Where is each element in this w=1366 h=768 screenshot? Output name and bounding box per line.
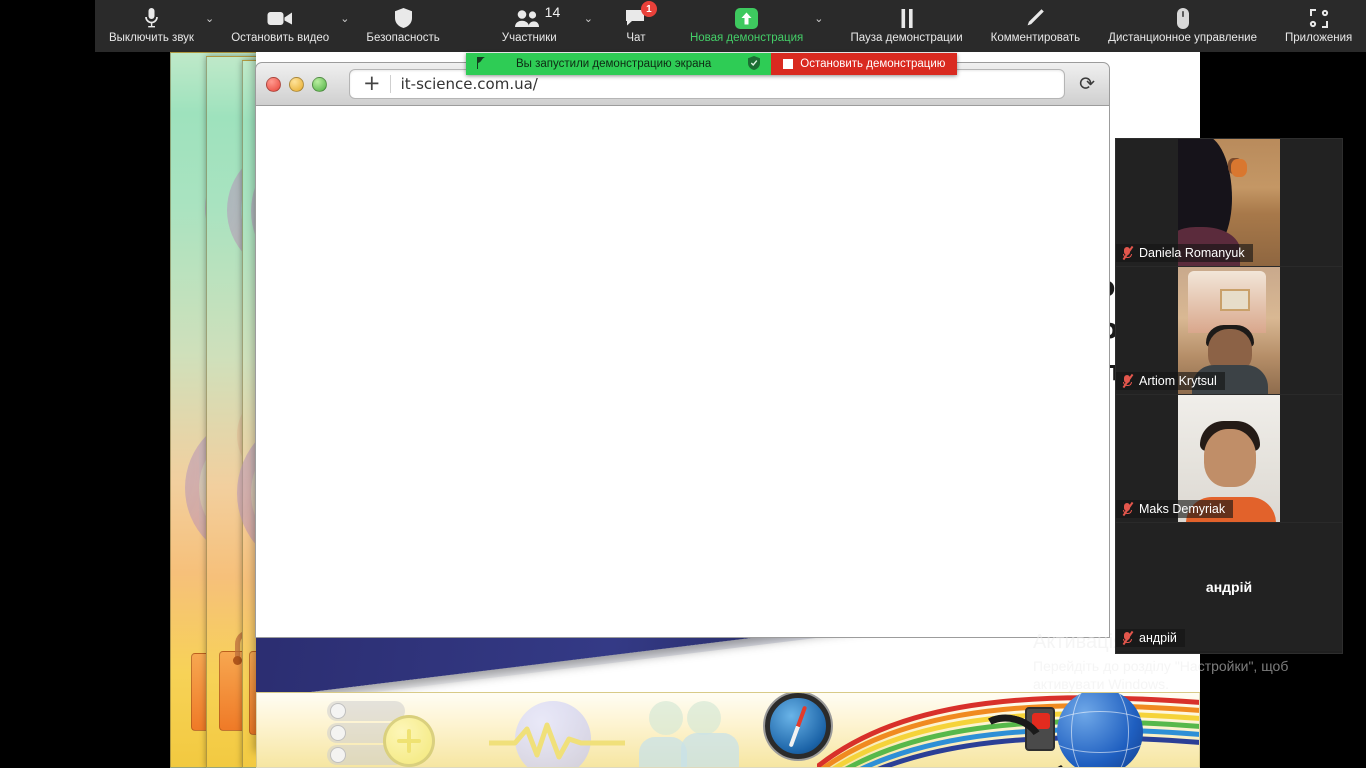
security-label: Безопасность (366, 33, 439, 45)
screen: В законі України “Про охорону праці” заз… (0, 0, 1366, 768)
screen-share-status-bar: Вы запустили демонстрацию экрана Останов… (466, 53, 957, 75)
mouse-icon (1176, 6, 1190, 30)
participant-placeholder-name: андрій (1116, 579, 1342, 595)
annotate-button[interactable]: Комментировать (982, 0, 1090, 52)
participant-name: андрій (1139, 631, 1177, 645)
chat-button[interactable]: 1 Чат (615, 0, 657, 52)
share-options-chevron-down-icon[interactable]: ⌄ (812, 0, 831, 52)
participants-button[interactable]: 14 Участники (493, 0, 566, 52)
mic-muted-icon (1121, 246, 1133, 260)
chat-unread-badge: 1 (641, 1, 657, 17)
address-bar-separator (390, 75, 391, 93)
pause-icon (899, 6, 915, 30)
decorative-person-body (681, 733, 739, 768)
maximize-window-button[interactable] (312, 77, 327, 92)
mute-options-chevron-down-icon[interactable]: ⌄ (203, 0, 222, 52)
decorative-toggle-knob (330, 725, 346, 741)
shield-check-icon (747, 55, 761, 74)
participants-label: Участники (502, 33, 557, 45)
microphone-icon (143, 6, 160, 30)
decorative-plus-icon (383, 715, 435, 767)
decorative-person-head (687, 701, 721, 735)
participant-name-chip: Artiom Krytsul (1116, 372, 1225, 390)
chat-label: Чат (626, 33, 645, 45)
participant-name: Artiom Krytsul (1139, 374, 1217, 388)
participant-name: Daniela Romanyuk (1139, 246, 1245, 260)
mic-muted-icon (1121, 374, 1133, 388)
stop-share-button[interactable]: Остановить демонстрацию (771, 53, 957, 75)
close-window-button[interactable] (266, 77, 281, 92)
pause-share-label: Пауза демонстрации (850, 33, 962, 45)
decorative-waveform (489, 721, 625, 761)
shield-icon (394, 6, 413, 30)
participant-tile[interactable]: андрій андрій (1116, 523, 1342, 651)
reload-icon[interactable]: ⟳ (1075, 73, 1099, 96)
participant-name-chip: Maks Demyriak (1116, 500, 1233, 518)
mic-muted-icon (1121, 502, 1133, 516)
share-up-arrow-icon (734, 6, 759, 30)
shared-browser-window: + it-science.com.ua/ ⟳ (255, 62, 1110, 638)
pause-share-button[interactable]: Пауза демонстрации (841, 0, 971, 52)
stop-share-label: Остановить демонстрацию (800, 58, 945, 70)
participants-count: 14 (545, 4, 561, 20)
stop-square-icon (783, 59, 793, 69)
camera-icon (267, 6, 293, 30)
url-text: it-science.com.ua/ (401, 75, 538, 93)
apps-label: Приложения (1285, 33, 1352, 45)
pencil-icon (1024, 6, 1046, 30)
zoom-meeting-toolbar: Выключить звук ⌄ Остановить видео ⌄ Безо… (95, 0, 1366, 52)
participant-name: Maks Demyriak (1139, 502, 1225, 516)
apps-bracket-icon (1308, 6, 1330, 30)
stop-video-label: Остановить видео (231, 33, 329, 45)
security-button[interactable]: Безопасность (357, 0, 448, 52)
decorative-toggle-knob (330, 747, 346, 763)
minimize-window-button[interactable] (289, 77, 304, 92)
participants-filmstrip[interactable]: Daniela Romanyuk Artiom Krytsul (1115, 138, 1343, 654)
video-options-chevron-down-icon[interactable]: ⌄ (338, 0, 357, 52)
mic-muted-icon (1121, 631, 1133, 645)
new-share-button[interactable]: Новая демонстрация (681, 0, 812, 52)
participant-name-chip: Daniela Romanyuk (1116, 244, 1253, 262)
participant-tile[interactable]: Daniela Romanyuk (1116, 139, 1342, 267)
participant-tile[interactable]: Maks Demyriak (1116, 395, 1342, 523)
template-footer-graphics (256, 692, 1200, 768)
decorative-person-body (639, 737, 687, 768)
participants-options-chevron-down-icon[interactable]: ⌄ (566, 0, 601, 52)
new-share-label: Новая демонстрация (690, 33, 803, 45)
share-status-text: Вы запустили демонстрацию экрана (498, 58, 737, 70)
browser-viewport (255, 106, 1110, 638)
participants-icon: 14 (514, 6, 544, 30)
mute-button[interactable]: Выключить звук (95, 0, 203, 52)
chat-bubble-icon: 1 (624, 6, 648, 30)
share-status-green-section: Вы запустили демонстрацию экрана (466, 53, 771, 75)
plus-icon[interactable]: + (360, 73, 390, 96)
participant-tile[interactable]: Artiom Krytsul (1116, 267, 1342, 395)
mute-label: Выключить звук (109, 33, 194, 45)
decorative-toggle-knob (330, 703, 346, 719)
participant-name-chip: андрій (1116, 629, 1185, 647)
stop-video-button[interactable]: Остановить видео (222, 0, 338, 52)
zoom-flag-icon (476, 56, 488, 73)
decorative-person-head (649, 701, 683, 735)
annotate-label: Комментировать (991, 33, 1081, 45)
remote-control-button[interactable]: Дистанционное управление (1099, 0, 1266, 52)
remote-control-label: Дистанционное управление (1108, 33, 1257, 45)
apps-button[interactable]: Приложения (1276, 0, 1361, 52)
